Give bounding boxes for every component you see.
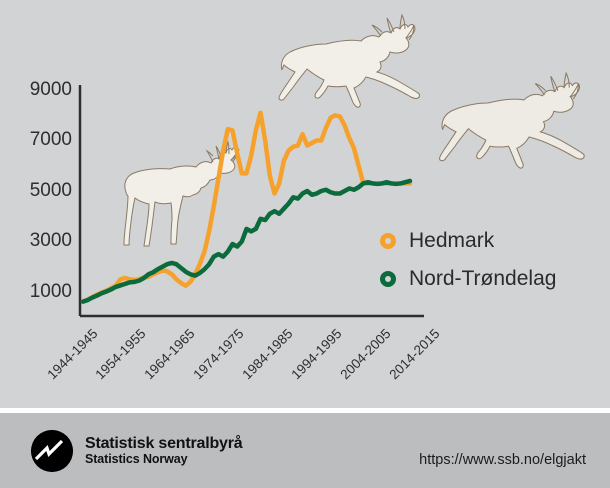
legend-label-nord-trondelag: Nord-Trøndelag [409, 267, 556, 291]
org-name-en: Statistics Norway [85, 453, 242, 466]
series-line-nord-trondelag [83, 181, 410, 302]
source-url[interactable]: https://www.ssb.no/elgjakt [419, 452, 586, 468]
chart-canvas: 1000 3000 5000 7000 9000 1944-1945 1954-… [0, 0, 610, 408]
chart-page: 1000 3000 5000 7000 9000 1944-1945 1954-… [0, 0, 610, 488]
plot-lines [0, 0, 610, 408]
series-line-hedmark [83, 113, 410, 302]
chart-legend: Hedmark Nord-Trøndelag [380, 222, 556, 298]
ssb-logo-mark-icon [31, 430, 73, 472]
legend-item-hedmark[interactable]: Hedmark [380, 222, 556, 260]
y-axis-tick-9000: 9000 [10, 79, 72, 101]
y-axis-tick-3000: 3000 [10, 230, 72, 252]
legend-marker-nord-trondelag-icon [380, 271, 396, 287]
footer-bar: Statistisk sentralbyrå Statistics Norway… [0, 408, 610, 488]
legend-item-nord-trondelag[interactable]: Nord-Trøndelag [380, 260, 556, 298]
y-axis-tick-5000: 5000 [10, 180, 72, 202]
y-axis-tick-7000: 7000 [10, 129, 72, 151]
y-axis-tick-1000: 1000 [10, 281, 72, 303]
ssb-logo: Statistisk sentralbyrå Statistics Norway [31, 430, 242, 472]
org-name-no: Statistisk sentralbyrå [85, 436, 242, 453]
ssb-logo-text: Statistisk sentralbyrå Statistics Norway [85, 436, 242, 466]
legend-marker-hedmark-icon [380, 233, 396, 249]
footer-divider [0, 408, 610, 413]
legend-label-hedmark: Hedmark [409, 229, 494, 253]
